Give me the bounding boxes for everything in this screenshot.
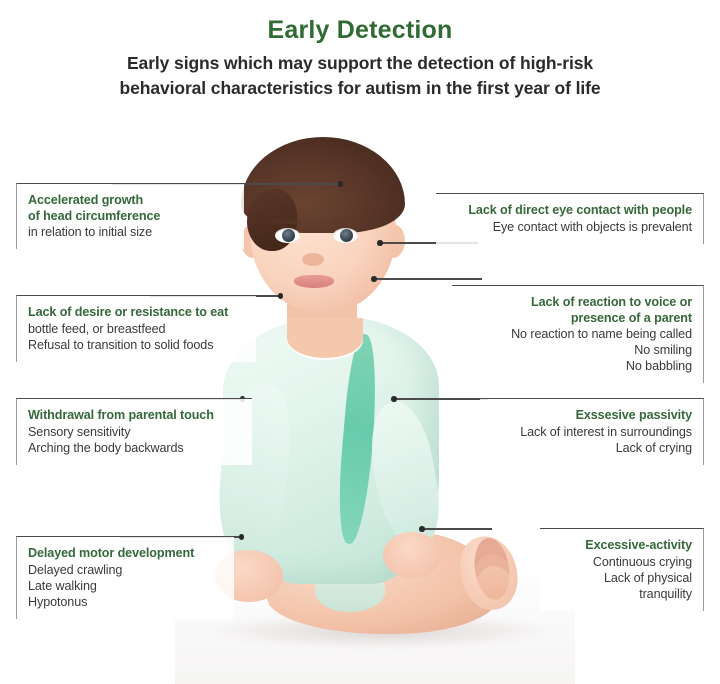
callout-line: No reaction to name being called — [462, 326, 692, 342]
callout-line: Hypotonus — [28, 594, 224, 610]
callout-line: Arching the body backwards — [28, 440, 242, 456]
baby-nose — [302, 253, 324, 266]
callout-excessive-activity[interactable]: Excessive-activity Continuous crying Lac… — [540, 528, 704, 611]
callout-title: Exssesive passivity — [490, 408, 692, 424]
connector-dot — [391, 396, 397, 402]
page-subtitle: Early signs which may support the detect… — [0, 51, 720, 101]
connector-dot — [419, 526, 425, 532]
callout-line: Lack of crying — [490, 440, 692, 456]
baby-hair — [241, 137, 405, 233]
baby-left-eye — [275, 228, 300, 243]
connector-dot — [377, 240, 383, 246]
callout-eye-contact[interactable]: Lack of direct eye contact with people E… — [436, 193, 704, 244]
baby-right-brow — [331, 219, 361, 224]
callout-line: Refusal to transition to solid foods — [28, 337, 246, 353]
callout-motor-development[interactable]: Delayed motor development Delayed crawli… — [16, 536, 234, 619]
header-block: Early Detection Early signs which may su… — [0, 14, 720, 101]
connector-excessive-activity — [420, 528, 492, 530]
connector-dot — [371, 276, 377, 282]
callout-title: Lack of reaction to voice or — [462, 295, 692, 311]
callout-line: bottle feed, or breastfeed — [28, 321, 246, 337]
callout-line: Lack of interest in surroundings — [490, 424, 692, 440]
subtitle-line-1: Early signs which may support the detect… — [0, 51, 720, 76]
callout-line: tranquility — [550, 586, 692, 602]
callout-line: Continuous crying — [550, 554, 692, 570]
callout-title: Delayed motor development — [28, 546, 224, 562]
callout-title-2: of head circumference — [28, 209, 234, 225]
callout-voice-reaction[interactable]: Lack of reaction to voice or presence of… — [452, 285, 704, 383]
callout-line: in relation to initial size — [28, 224, 234, 240]
connector-passivity — [392, 398, 488, 400]
callout-head-circumference[interactable]: Accelerated growth of head circumference… — [16, 183, 244, 249]
callout-title: Accelerated growth — [28, 193, 234, 209]
callout-title: Lack of desire or resistance to eat — [28, 305, 246, 321]
callout-line: No smiling — [462, 342, 692, 358]
infographic-root: Early Detection Early signs which may su… — [0, 0, 720, 684]
callout-line: Late walking — [28, 578, 224, 594]
baby-right-eye — [333, 228, 358, 243]
baby-left-brow — [272, 219, 302, 224]
callout-excessive-passivity[interactable]: Exssesive passivity Lack of interest in … — [480, 398, 704, 465]
callout-title: Lack of direct eye contact with people — [446, 203, 692, 219]
callout-feeding-resistance[interactable]: Lack of desire or resistance to eat bott… — [16, 295, 256, 362]
callout-line: Sensory sensitivity — [28, 424, 242, 440]
callout-title: Withdrawal from parental touch — [28, 408, 242, 424]
baby-right-hand — [383, 532, 441, 578]
callout-line: No babbling — [462, 358, 692, 374]
callout-parental-touch[interactable]: Withdrawal from parental touch Sensory s… — [16, 398, 252, 465]
callout-title-2: presence of a parent — [462, 311, 692, 327]
callout-line: Eye contact with objects is prevalent — [446, 219, 692, 235]
connector-dot — [278, 293, 284, 299]
page-title: Early Detection — [0, 14, 720, 46]
onesie-collar — [287, 318, 363, 358]
connector-dot — [239, 534, 245, 540]
baby-mouth — [294, 275, 334, 288]
callout-line: Delayed crawling — [28, 562, 224, 578]
connector-dot — [338, 181, 344, 187]
callout-line: Lack of physical — [550, 570, 692, 586]
subtitle-line-2: behavioral characteristics for autism in… — [0, 76, 720, 101]
connector-voice-reaction — [372, 278, 482, 280]
callout-title: Excessive-activity — [550, 538, 692, 554]
